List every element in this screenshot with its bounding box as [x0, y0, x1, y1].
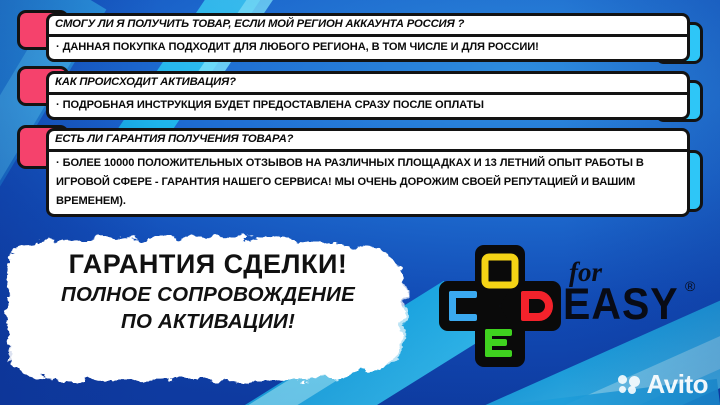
avito-watermark: Avito [618, 371, 708, 397]
faq-question-text: КАК ПРОИСХОДИТ АКТИВАЦИЯ? [55, 75, 682, 90]
registered-trademark-icon: ® [685, 278, 695, 294]
faq-answer-text: · ПОДРОБНАЯ ИНСТРУКЦИЯ БУДЕТ ПРЕДОСТАВЛЕ… [56, 97, 682, 114]
faq-answer-text: · ДАННАЯ ПОКУПКА ПОДХОДИТ ДЛЯ ЛЮБОГО РЕГ… [56, 39, 682, 56]
faq-answer-row: · БОЛЕЕ 10000 ПОЛОЖИТЕЛЬНЫХ ОТЗЫВОВ НА Р… [49, 152, 687, 214]
banner-headline: ГАРАНТИЯ СДЕЛКИ! [18, 248, 398, 281]
banner-subline-2: ПО АКТИВАЦИИ! [18, 308, 398, 335]
avito-logo-icon [618, 374, 641, 394]
faq-question-text: ЕСТЬ ЛИ ГАРАНТИЯ ПОЛУЧЕНИЯ ТОВАРА? [55, 132, 682, 147]
faq-card-body: СМОГУ ЛИ Я ПОЛУЧИТЬ ТОВАР, ЕСЛИ МОЙ РЕГИ… [46, 13, 690, 62]
code-dpad-logo [437, 243, 563, 369]
faq-question-row: КАК ПРОИСХОДИТ АКТИВАЦИЯ? [49, 74, 687, 95]
guarantee-banner-text: ГАРАНТИЯ СДЕЛКИ! ПОЛНОЕ СОПРОВОЖДЕНИЕ ПО… [18, 248, 398, 335]
faq-answer-row: · ПОДРОБНАЯ ИНСТРУКЦИЯ БУДЕТ ПРЕДОСТАВЛЕ… [49, 95, 687, 117]
easy-label: EASY [563, 280, 679, 328]
faq-question-row: СМОГУ ЛИ Я ПОЛУЧИТЬ ТОВАР, ЕСЛИ МОЙ РЕГИ… [49, 16, 687, 37]
faq-question-text: СМОГУ ЛИ Я ПОЛУЧИТЬ ТОВАР, ЕСЛИ МОЙ РЕГИ… [55, 17, 682, 32]
for-easy-wordmark: for EASY ® [563, 258, 713, 348]
promo-banner-canvas: СМОГУ ЛИ Я ПОЛУЧИТЬ ТОВАР, ЕСЛИ МОЙ РЕГИ… [0, 0, 720, 405]
faq-card-body: ЕСТЬ ЛИ ГАРАНТИЯ ПОЛУЧЕНИЯ ТОВАРА? · БОЛ… [46, 128, 690, 217]
faq-answer-row: · ДАННАЯ ПОКУПКА ПОДХОДИТ ДЛЯ ЛЮБОГО РЕГ… [49, 37, 687, 59]
faq-answer-text: · БОЛЕЕ 10000 ПОЛОЖИТЕЛЬНЫХ ОТЗЫВОВ НА Р… [56, 154, 682, 211]
banner-subline-1: ПОЛНОЕ СОПРОВОЖДЕНИЕ [18, 281, 398, 308]
faq-question-row: ЕСТЬ ЛИ ГАРАНТИЯ ПОЛУЧЕНИЯ ТОВАРА? [49, 131, 687, 152]
faq-card-body: КАК ПРОИСХОДИТ АКТИВАЦИЯ? · ПОДРОБНАЯ ИН… [46, 71, 690, 120]
avito-wordmark: Avito [646, 371, 708, 397]
